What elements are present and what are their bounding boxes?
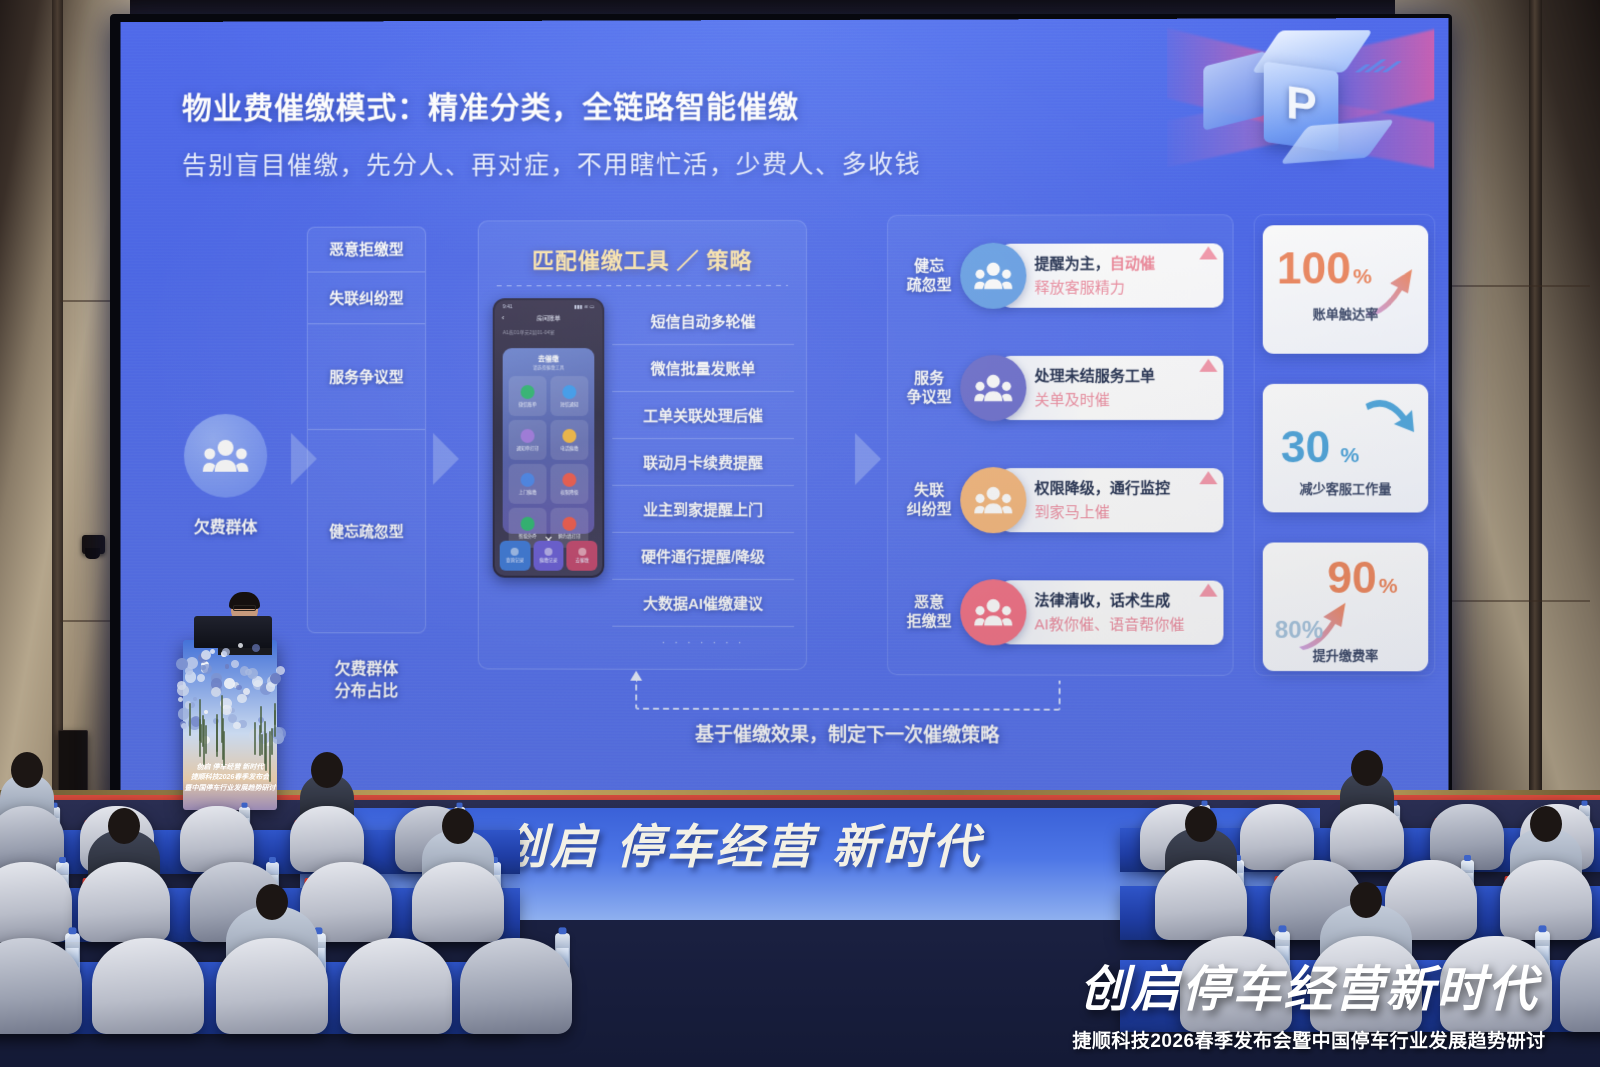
watermark-subtitle: 捷顺科技2026春季发布会暨中国停车行业发展趋势研讨 <box>1044 1026 1574 1053</box>
distribution-segment: 恶意拒缴型 <box>308 228 425 273</box>
wall-camera-icon <box>82 535 105 554</box>
strategy-line-2: 释放客服精力 <box>1034 277 1211 298</box>
persona-group: 欠费群体 <box>172 414 279 538</box>
tool-tile-icon <box>521 385 535 399</box>
flower <box>197 674 205 682</box>
phone-tool-tile[interactable]: 通知单打印 <box>509 420 547 460</box>
strategy-line-2: AI教你催、语音帮你催 <box>1034 613 1211 634</box>
collect-modal: 去催缴 请选择催缴工具 微信账单短信通知通知单打印电话催缴上门催缴权限降级智能外… <box>503 348 595 534</box>
slide-subtitle: 告别盲目催缴，先分人、再对症，不用瞎忙活，少费人、多收钱 <box>182 145 921 182</box>
flower <box>178 708 190 720</box>
tools-panel: 匹配催缴工具 ／ 策略 9:41 ▮▮▮ ≋ ▭ ‹ 房间账单 A1栋01单元2… <box>478 220 807 670</box>
strategy-card-tag: 失联纠纷型 <box>900 481 958 520</box>
tool-list-item[interactable]: 工单关联处理后催 <box>612 392 794 439</box>
tool-list-item[interactable]: 大数据AI催缴建议 <box>612 580 794 627</box>
foliage <box>189 703 191 737</box>
tool-tile-icon <box>521 472 535 486</box>
flower <box>233 722 240 729</box>
phone-nav-bar: ‹ 房间账单 <box>495 310 603 325</box>
distribution-segment-label: 服务争议型 <box>329 366 404 387</box>
tab-icon <box>578 548 586 556</box>
tool-tile-label: 智能外呼 <box>519 533 537 539</box>
tab-icon <box>544 548 552 556</box>
foliage <box>261 734 263 756</box>
tool-strategy-list: 短信自动多轮催微信批量发账单工单关联处理后催联动月卡续费提醒业主到家提醒上门硬件… <box>612 298 794 649</box>
foliage <box>205 725 207 755</box>
audience-head <box>1185 806 1217 842</box>
strategy-card-body: 权限降级，通行监控到家马上催 <box>1000 468 1223 532</box>
audience-chair <box>216 938 328 1034</box>
foliage <box>200 724 202 743</box>
distribution-segment: 健忘疏忽型 <box>308 430 425 632</box>
flower <box>224 705 233 714</box>
tool-list-item[interactable]: 微信批量发账单 <box>612 345 794 392</box>
audience-head <box>256 884 288 920</box>
flower <box>200 665 206 671</box>
strategy-line-1: 法律清收，话术生成 <box>1034 589 1211 610</box>
tool-tile-label: 微信账单 <box>519 402 537 408</box>
modal-subtitle: 请选择催缴工具 <box>509 365 589 371</box>
audience-chair <box>1155 860 1247 940</box>
right-column-seam <box>1529 0 1542 850</box>
phone-tab[interactable]: 去催缴 <box>567 541 598 571</box>
debtor-distribution-column: 恶意拒缴型失联纠纷型服务争议型健忘疏忽型 <box>307 227 426 634</box>
tool-list-item[interactable]: 硬件通行提醒/降级 <box>612 533 794 580</box>
distribution-segment-label: 恶意拒缴型 <box>329 239 404 260</box>
tab-label: 查询记录 <box>506 558 524 564</box>
flower <box>193 697 198 702</box>
more-items-dots: · · · · · · · <box>612 627 794 649</box>
trend-up-arrow-icon <box>1199 246 1217 259</box>
tool-tile-label: 通知单打印 <box>516 445 538 451</box>
foliage <box>271 728 273 755</box>
strategy-cards-panel: 健忘疏忽型提醒为主，自动催释放客服精力服务争议型处理未结服务工单关单及时催失联纠… <box>887 214 1233 676</box>
watermark-title: 创启停车经营新时代 <box>1044 950 1574 1021</box>
speaker-glasses-icon <box>233 605 256 611</box>
trend-up-arrow-icon <box>1199 584 1217 597</box>
phone-tool-tile[interactable]: 短信通知 <box>550 376 588 416</box>
tool-tile-icon <box>521 516 535 530</box>
audience-head <box>1350 882 1382 918</box>
phone-tool-tile[interactable]: 微信账单 <box>509 376 547 416</box>
phone-mockup: 9:41 ▮▮▮ ≋ ▭ ‹ 房间账单 A1栋01单元2层01-04室 去催缴 … <box>493 298 605 578</box>
foliage <box>216 719 218 757</box>
audience-head <box>311 752 343 788</box>
feedback-loop-caption: 基于催缴效果，制定下一次催缴策略 <box>587 720 1107 748</box>
phone-room-row: A1栋01单元2层01-04室 <box>503 329 595 336</box>
audience-chair <box>460 938 572 1034</box>
flower <box>236 685 241 690</box>
tool-tile-icon <box>562 472 576 486</box>
tool-tile-label: 解约清打印 <box>558 533 580 539</box>
strategy-card[interactable]: 健忘疏忽型提醒为主，自动催释放客服精力 <box>900 231 1223 320</box>
tool-tile-label: 短信通知 <box>560 402 578 408</box>
tool-tile-label: 权限降级 <box>560 489 578 495</box>
event-watermark: 创启停车经营新时代 捷顺科技2026春季发布会暨中国停车行业发展趋势研讨 <box>1044 950 1574 1053</box>
foliage <box>265 733 267 771</box>
tool-tile-icon <box>521 428 535 442</box>
strategy-card-tag: 服务争议型 <box>900 368 958 407</box>
kpi-baseline: 80% <box>1275 617 1323 645</box>
kpi-unit: % <box>1353 265 1372 288</box>
flower <box>178 697 183 702</box>
group-people-icon <box>960 243 1026 309</box>
group-people-icon <box>960 579 1026 645</box>
phone-tool-tile[interactable]: 电话催缴 <box>550 420 588 460</box>
distribution-segment: 服务争议型 <box>308 325 425 430</box>
strategy-line-1: 提醒为主，自动催 <box>1034 252 1211 273</box>
tool-list-item[interactable]: 短信自动多轮催 <box>612 298 794 345</box>
tab-label: 催缴记录 <box>540 558 558 564</box>
strategy-card-body: 提醒为主，自动催释放客服精力 <box>1000 243 1223 307</box>
divider <box>497 285 788 286</box>
strategy-card-tag: 健忘疏忽型 <box>900 256 958 295</box>
kpi-caption: 提升缴费率 <box>1263 645 1428 664</box>
tool-tile-grid: 微信账单短信通知通知单打印电话催缴上门催缴权限降级智能外呼解约清打印 <box>509 376 589 548</box>
flower <box>252 644 260 652</box>
led-screen-bezel: P 物业费催缴模式：精准分类，全链路智能催缴 告别盲目催缴，先分人、再对症，不用… <box>110 14 1452 814</box>
phone-nav-title: 房间账单 <box>537 313 561 322</box>
phone-tab[interactable]: 催缴记录 <box>533 541 564 571</box>
floral-arrangement <box>176 636 286 751</box>
persona-label: 欠费群体 <box>172 514 279 538</box>
tools-panel-title: 匹配催缴工具 ／ 策略 <box>479 243 806 275</box>
group-people-icon <box>960 355 1026 421</box>
phone-tab[interactable]: 查询记录 <box>500 541 531 571</box>
phone-tool-tile[interactable]: 权限降级 <box>550 464 588 504</box>
kpi-cards-panel: 100%账单触达率30%减少客服工作量80%90%提升缴费率 <box>1254 214 1436 676</box>
audience-head <box>11 752 43 788</box>
kpi-unit: % <box>1379 575 1398 598</box>
tool-tile-icon <box>562 428 576 442</box>
flow-chevron-icon <box>433 433 459 485</box>
distribution-segment: 失联纠纷型 <box>308 272 425 325</box>
flower <box>238 643 243 648</box>
audience-head <box>442 808 474 844</box>
strategy-card[interactable]: 服务争议型处理未结服务工单关单及时催 <box>900 344 1223 432</box>
conference-room-scene: P 物业费催缴模式：精准分类，全链路智能催缴 告别盲目催缴，先分人、再对症，不用… <box>0 0 1600 1067</box>
tool-list-item[interactable]: 业主到家提醒上门 <box>612 486 794 533</box>
tab-icon <box>511 548 519 556</box>
foliage <box>274 710 276 736</box>
foliage <box>260 706 262 733</box>
foliage <box>254 722 256 755</box>
trend-up-arrow-icon <box>1199 471 1217 484</box>
group-people-icon <box>960 467 1026 533</box>
audience-chair <box>1330 804 1404 870</box>
flower <box>225 664 230 669</box>
strategy-line-1: 处理未结服务工单 <box>1034 365 1211 386</box>
strategy-line-2: 到家马上催 <box>1034 501 1211 522</box>
arrow-down-curved-icon <box>1362 394 1421 436</box>
flower <box>237 694 247 704</box>
letter-p-glyph: P <box>1286 74 1317 132</box>
kpi-card: 100%账单触达率 <box>1263 225 1428 354</box>
slide-title: 物业费催缴模式：精准分类，全链路智能催缴 <box>182 82 799 127</box>
tool-list-item[interactable]: 联动月卡续费提醒 <box>612 439 794 486</box>
flower <box>204 710 209 715</box>
kpi-unit: % <box>1340 444 1359 467</box>
kpi-caption: 账单触达率 <box>1263 303 1428 322</box>
strategy-card-body: 处理未结服务工单关单及时催 <box>1000 356 1223 420</box>
strategy-card-body: 法律清收，话术生成AI教你催、语音帮你催 <box>1000 580 1223 645</box>
audience-head <box>1351 750 1383 786</box>
phone-tab-bar: 查询记录催缴记录去催缴 <box>500 541 598 571</box>
parking-p-cube-graphic: P <box>1167 18 1434 195</box>
flower <box>270 673 281 684</box>
kpi-value: 90% <box>1327 557 1397 601</box>
kpi-value: 30% <box>1281 426 1359 470</box>
distribution-segment-label: 健忘疏忽型 <box>329 521 404 542</box>
kpi-caption: 减少客服工作量 <box>1263 478 1428 497</box>
strategy-card-tag: 恶意拒缴型 <box>900 593 958 632</box>
kpi-card: 30%减少客服工作量 <box>1263 384 1428 513</box>
audience-chair <box>78 862 170 942</box>
strategy-card[interactable]: 失联纠纷型权限降级，通行监控到家马上催 <box>900 456 1223 544</box>
audience-head <box>108 808 140 844</box>
strategy-line-2: 关单及时催 <box>1034 389 1211 410</box>
flower <box>224 678 235 689</box>
strategy-line-1: 权限降级，通行监控 <box>1034 477 1211 498</box>
tool-tile-icon <box>562 516 576 530</box>
audience-head <box>1530 806 1562 842</box>
flower <box>201 650 211 660</box>
left-column-seam <box>52 0 63 830</box>
flower <box>185 667 193 675</box>
audience-chair <box>92 938 204 1034</box>
flower <box>177 685 188 696</box>
flower <box>222 648 230 656</box>
audience-chair <box>340 938 452 1034</box>
flower <box>231 660 239 668</box>
flower <box>181 723 187 729</box>
flower <box>211 687 221 697</box>
tool-tile-label: 电话催缴 <box>560 445 578 451</box>
modal-title: 去催缴 <box>509 354 589 364</box>
kpi-card: 80%90%提升缴费率 <box>1263 542 1428 671</box>
group-people-glyph <box>203 439 249 473</box>
strategy-card[interactable]: 恶意拒缴型法律清收，话术生成AI教你催、语音帮你催 <box>900 568 1223 657</box>
distribution-caption: 欠费群体 分布占比 <box>297 659 436 702</box>
audience-chair <box>412 862 504 942</box>
flower <box>228 714 237 723</box>
tool-tile-icon <box>562 385 576 399</box>
kpi-value: 100% <box>1277 247 1372 291</box>
chevron-left-icon[interactable]: ‹ <box>502 313 505 322</box>
presentation-slide: P 物业费催缴模式：精准分类，全链路智能催缴 告别盲目催缴，先分人、再对症，不用… <box>121 18 1449 808</box>
flow-chevron-icon <box>855 433 881 485</box>
phone-status-bar: 9:41 ▮▮▮ ≋ ▭ <box>495 300 603 310</box>
distribution-segment-label: 失联纠纷型 <box>329 287 404 308</box>
phone-tool-tile[interactable]: 上门催缴 <box>509 464 547 504</box>
tool-tile-label: 上门催缴 <box>519 489 537 495</box>
trend-up-arrow-icon <box>1199 359 1217 372</box>
flower <box>247 668 258 679</box>
tab-label: 去催缴 <box>575 558 588 564</box>
feedback-loop-arrow <box>635 680 1060 711</box>
group-people-icon <box>184 414 267 498</box>
